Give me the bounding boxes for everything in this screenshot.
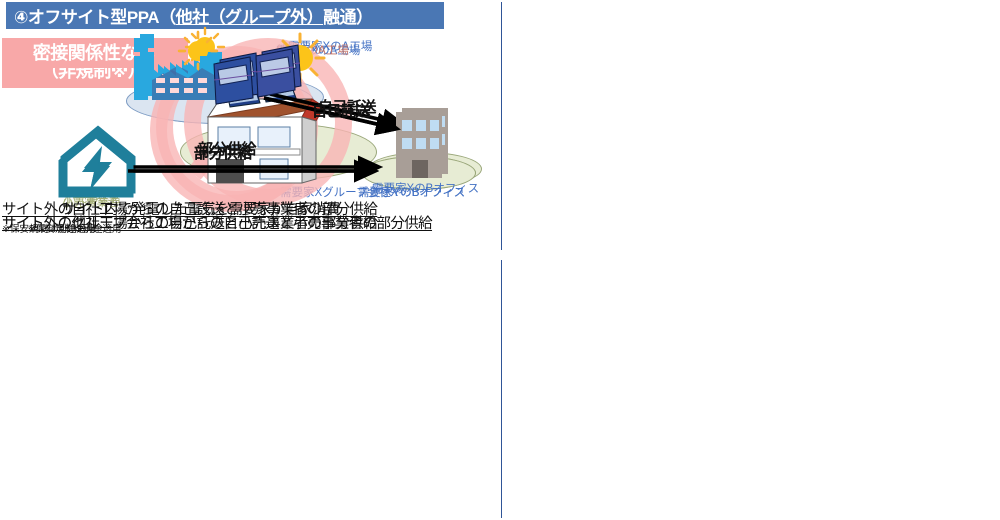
vertical-divider-bottom (501, 260, 502, 518)
panel-4-header-underline: 他社（グループ外） (176, 3, 323, 28)
panel-4-header-suffix: 融通） (323, 3, 373, 28)
retailer-house-icon (60, 132, 132, 196)
panel-4-header-prefix: ④オフサイト型PPA（ (14, 3, 176, 28)
panel-4-partial-supply-label: 部分供給 (194, 142, 252, 163)
panel-4-partial-supply-arrow (126, 164, 388, 178)
vertical-divider-top (501, 2, 502, 250)
panel-4-caption: サイト外の他社工場からの自己託送と小売事業者の部分供給 (2, 212, 377, 233)
panel-4-header: ④オフサイト型PPA（他社（グループ外）融通） (6, 2, 444, 29)
ppa-diagram-sheet: ①オンサイト型PPA 自家発自家消費 （非規制※） (0, 0, 1000, 520)
panel-4-wheeling-label: 自己託送 (312, 100, 370, 121)
